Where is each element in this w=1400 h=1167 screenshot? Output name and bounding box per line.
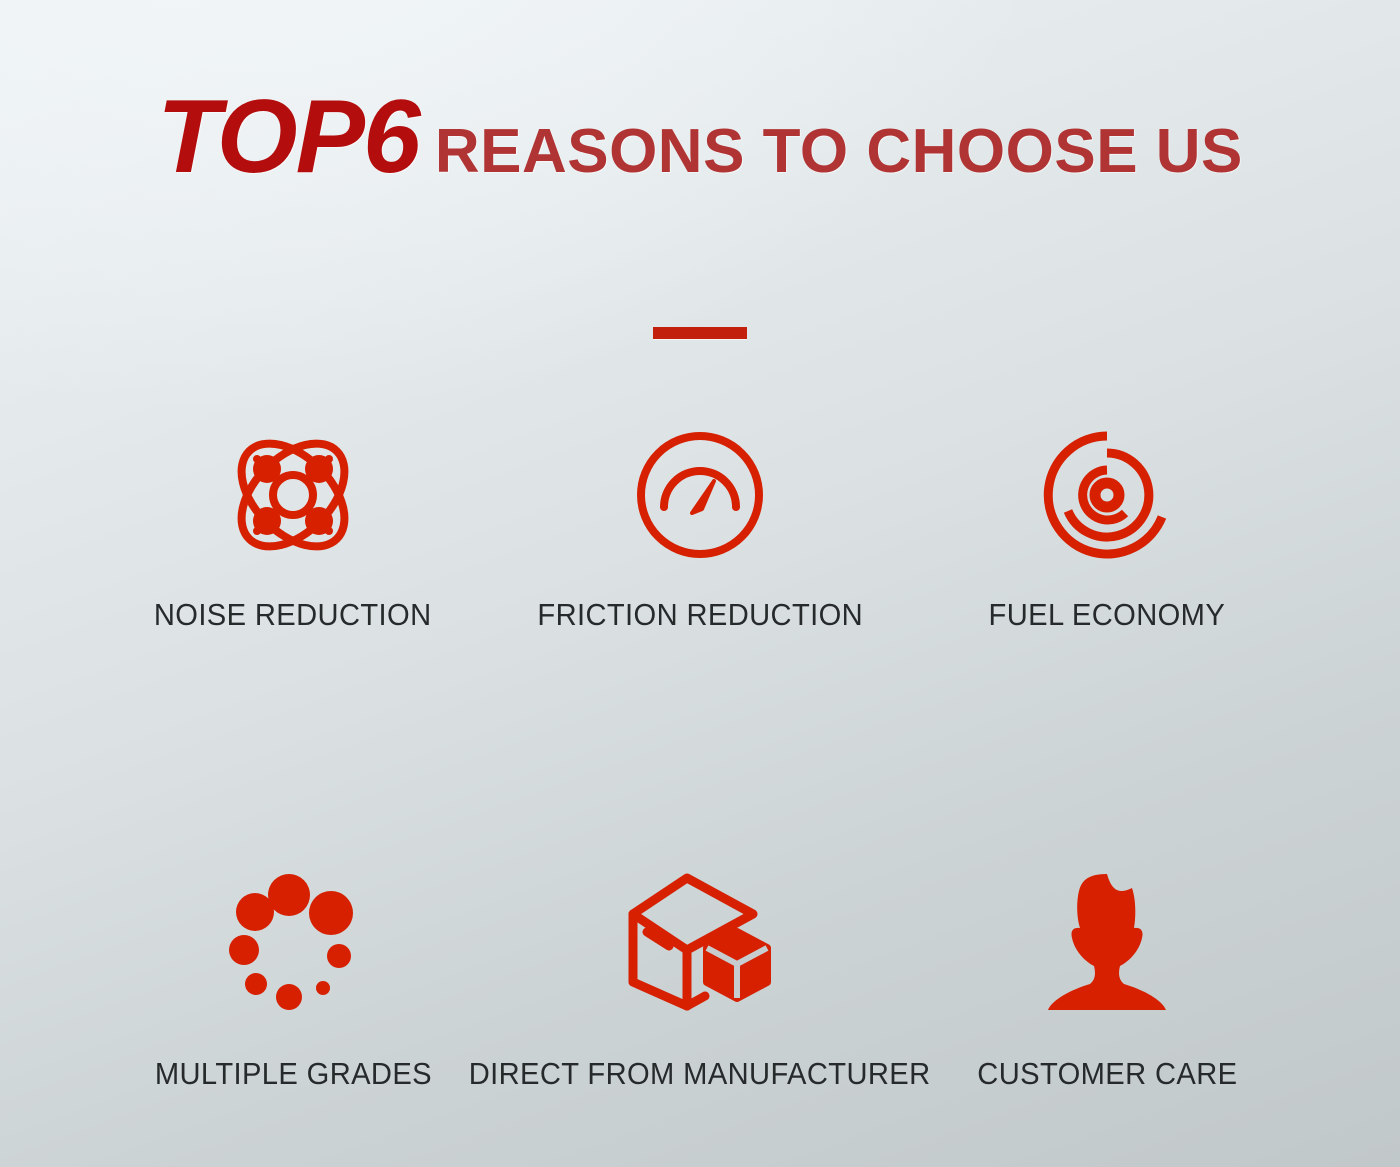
spiral-rings-icon bbox=[1022, 415, 1192, 575]
section-divider bbox=[653, 327, 747, 339]
feature-row-bottom: MULTIPLE GRADES bbox=[90, 860, 1310, 1092]
feature-item-noise-reduction[interactable]: NOISE REDUCTION bbox=[90, 415, 496, 633]
feature-label: FUEL ECONOMY bbox=[989, 597, 1226, 633]
feature-item-fuel-economy[interactable]: FUEL ECONOMY bbox=[904, 415, 1310, 633]
page-title-rest: REASONS TO CHOOSE US bbox=[435, 117, 1243, 186]
feature-label: NOISE REDUCTION bbox=[154, 597, 432, 633]
feature-label: MULTIPLE GRADES bbox=[154, 1056, 431, 1092]
page-title: TOP6REASONS TO CHOOSE US bbox=[0, 78, 1400, 197]
feature-item-direct-from-manufacturer[interactable]: DIRECT FROM MANUFACTURER bbox=[497, 860, 903, 1092]
atom-icon bbox=[208, 415, 378, 575]
infographic-page: TOP6REASONS TO CHOOSE US bbox=[0, 0, 1400, 1167]
feature-item-friction-reduction[interactable]: FRICTION REDUCTION bbox=[497, 415, 903, 633]
page-title-highlight: TOP6 bbox=[157, 79, 419, 195]
feature-label: FRICTION REDUCTION bbox=[537, 597, 863, 633]
package-box-icon bbox=[615, 860, 785, 1020]
dot-ring-icon bbox=[208, 860, 378, 1020]
feature-label: DIRECT FROM MANUFACTURER bbox=[469, 1056, 931, 1092]
feature-item-multiple-grades[interactable]: MULTIPLE GRADES bbox=[90, 860, 496, 1092]
feature-item-customer-care[interactable]: CUSTOMER CARE bbox=[904, 860, 1310, 1092]
feature-row-top: NOISE REDUCTION FRICTION REDUCTION bbox=[90, 415, 1310, 633]
speedometer-icon bbox=[615, 415, 785, 575]
feature-label: CUSTOMER CARE bbox=[977, 1056, 1237, 1092]
person-silhouette-icon bbox=[1022, 860, 1192, 1020]
